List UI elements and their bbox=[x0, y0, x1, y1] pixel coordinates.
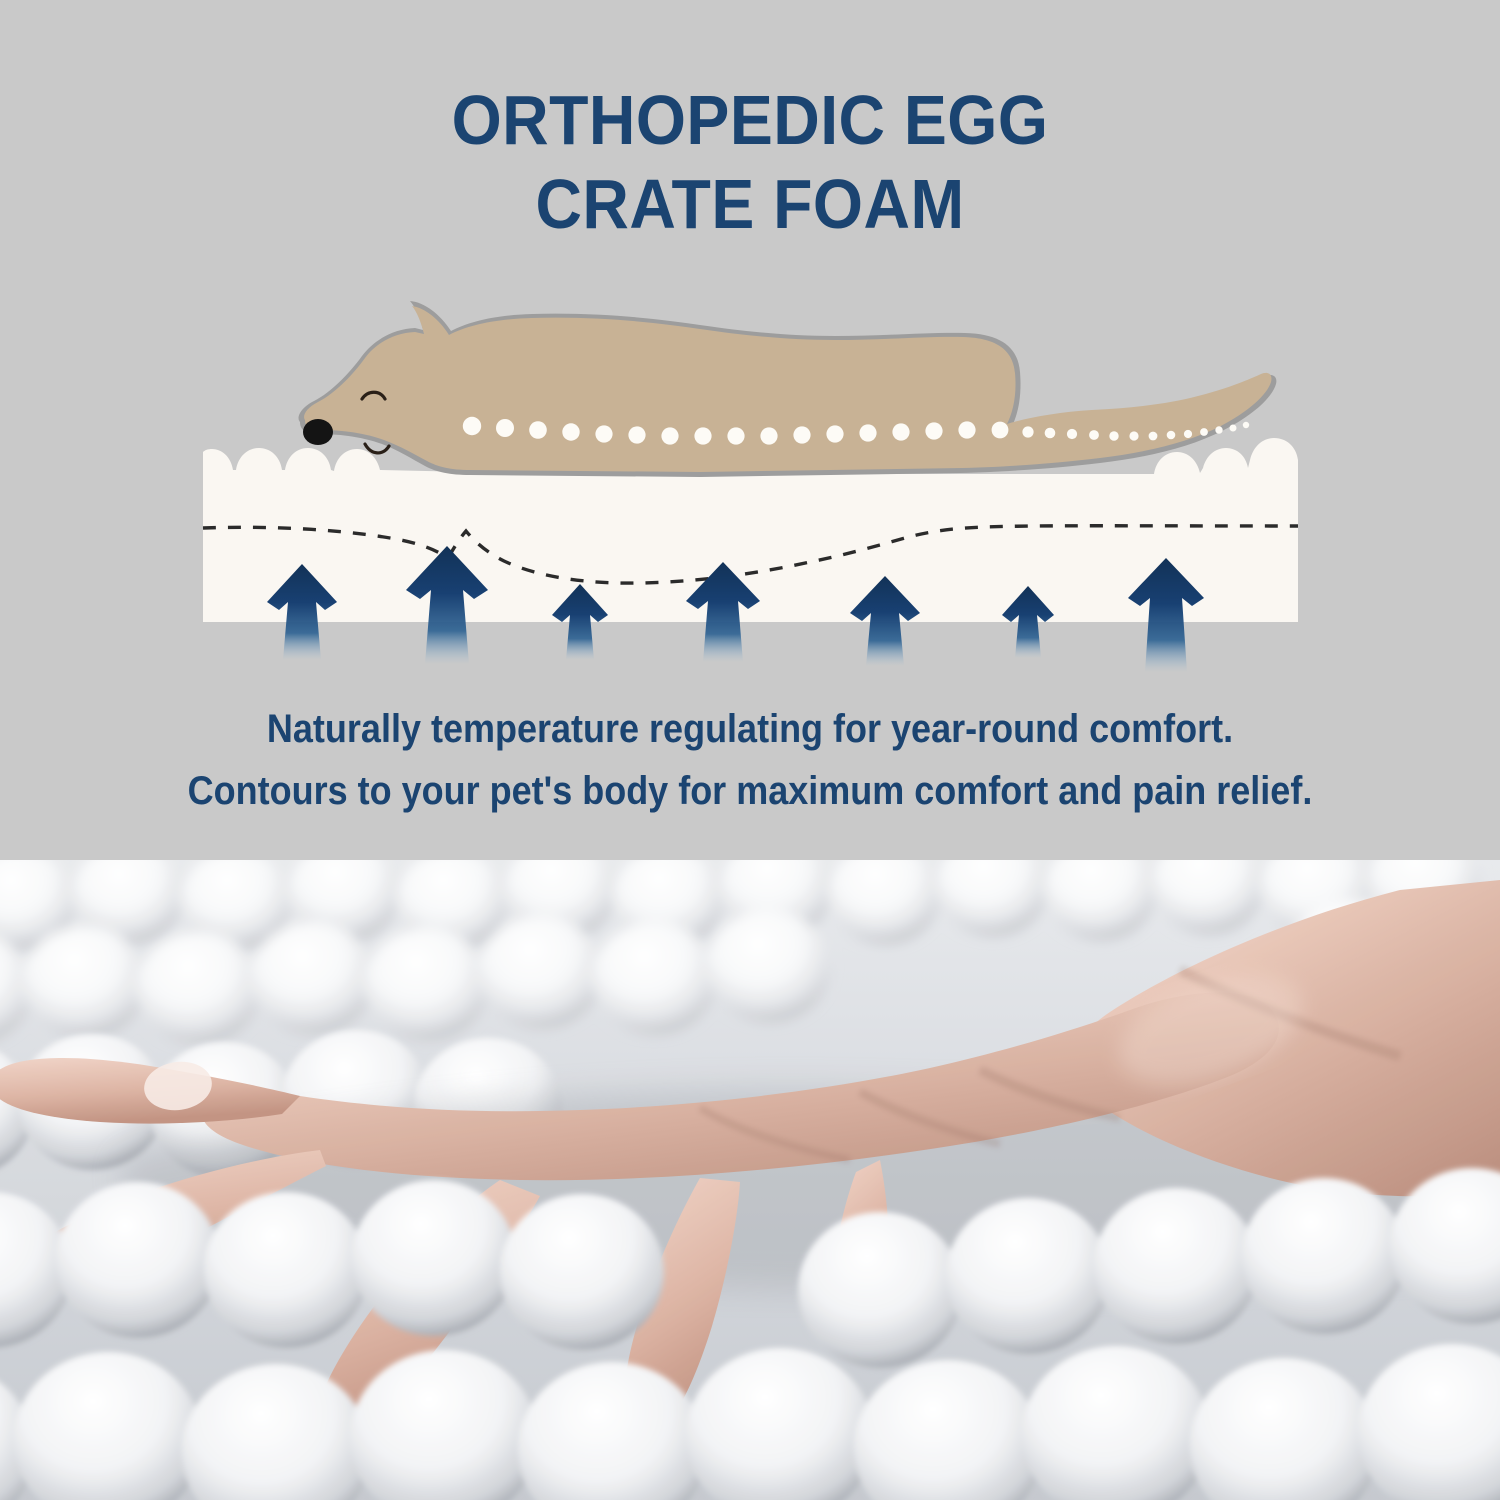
dog-mouth bbox=[365, 444, 389, 453]
subtitle-block: Naturally temperature regulating for yea… bbox=[75, 698, 1425, 822]
page-title: ORTHOPEDIC EGG CRATE FOAM bbox=[60, 78, 1440, 246]
subtitle-line-2: Contours to your pet's body for maximum … bbox=[75, 760, 1425, 822]
dog-nose bbox=[303, 419, 333, 445]
subtitle-line-1: Naturally temperature regulating for yea… bbox=[75, 698, 1425, 760]
dog-illustration bbox=[299, 301, 1277, 477]
product-infographic-page: ORTHOPEDIC EGG CRATE FOAM bbox=[0, 0, 1500, 1500]
hand-pressing-foam-photo bbox=[0, 860, 1500, 1500]
top-infographic-panel: ORTHOPEDIC EGG CRATE FOAM bbox=[0, 0, 1500, 860]
dog-on-foam-illustration bbox=[0, 300, 1500, 690]
foam-photo-panel bbox=[0, 860, 1500, 1500]
